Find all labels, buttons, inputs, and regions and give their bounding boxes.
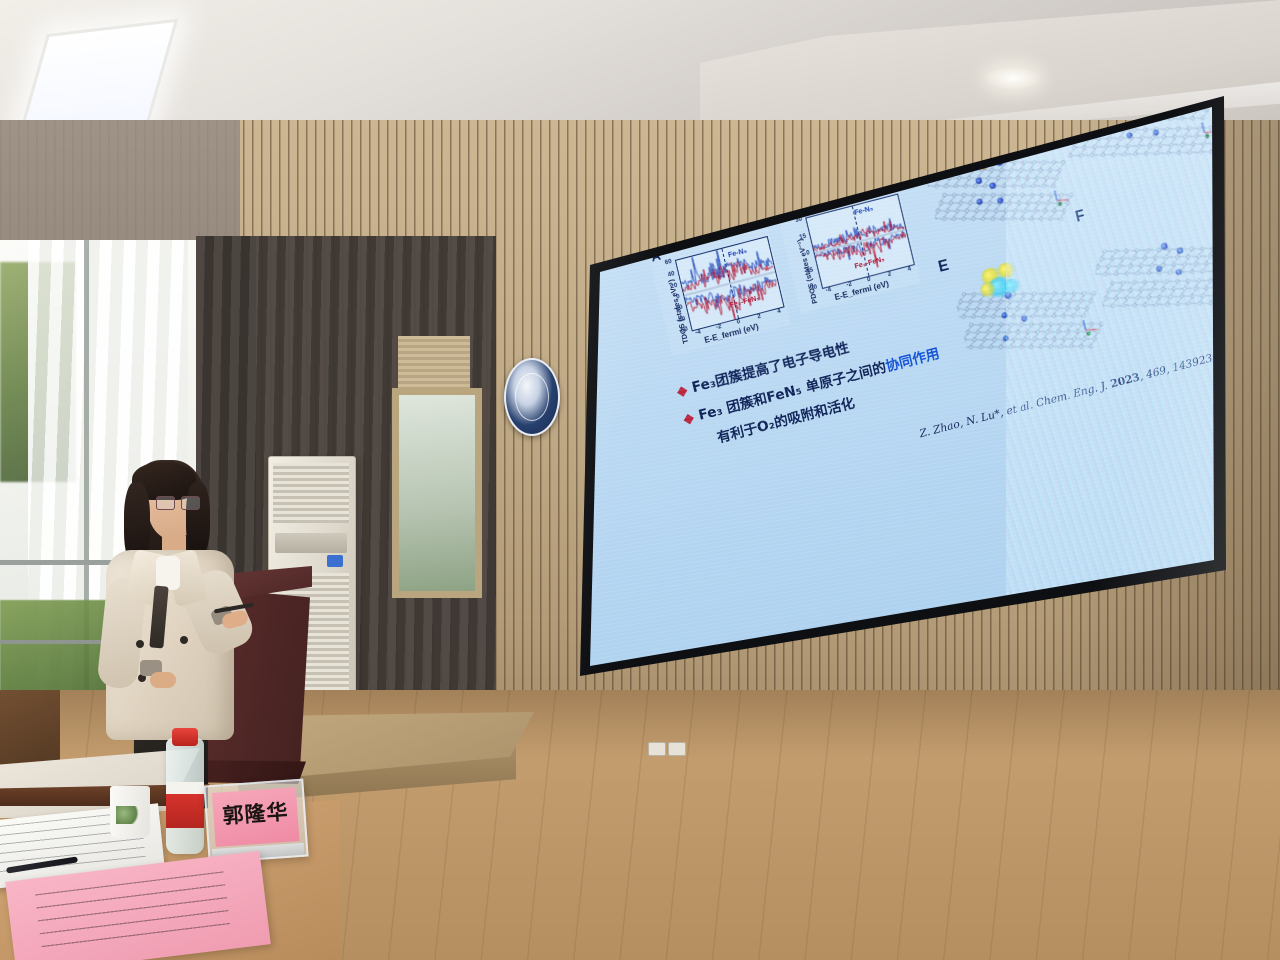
presenter-hair-right <box>186 482 210 556</box>
pink-document-lines <box>35 871 230 950</box>
window-blind <box>398 336 470 392</box>
name-card-text: 郭隆华 <box>212 795 298 831</box>
ac-grille-top <box>273 463 349 523</box>
glasses-icon <box>156 496 200 509</box>
presenter-scarf <box>156 556 180 590</box>
paper-cup-pattern <box>116 806 142 824</box>
presenter-left-hand <box>150 672 176 688</box>
chair <box>0 690 60 770</box>
ac-badge-icon <box>327 555 343 567</box>
power-outlet-icon <box>648 742 666 756</box>
downlight-icon <box>986 66 1040 90</box>
ac-control-panel[interactable] <box>275 533 347 553</box>
lecture-room-photo: 1、铁单原子/原子簇纳米酶用于比率型荧光检测 DFT 计算 A TDOS (st… <box>0 0 1280 960</box>
name-card-insert: 郭隆华 <box>212 787 300 847</box>
coat-button <box>136 640 144 648</box>
water-bottle-cap <box>172 728 198 746</box>
water-bottle-label <box>166 782 204 828</box>
power-outlet-icon <box>668 742 686 756</box>
coat-button <box>180 636 188 644</box>
university-emblem-icon <box>504 358 560 436</box>
interior-window <box>392 388 482 598</box>
